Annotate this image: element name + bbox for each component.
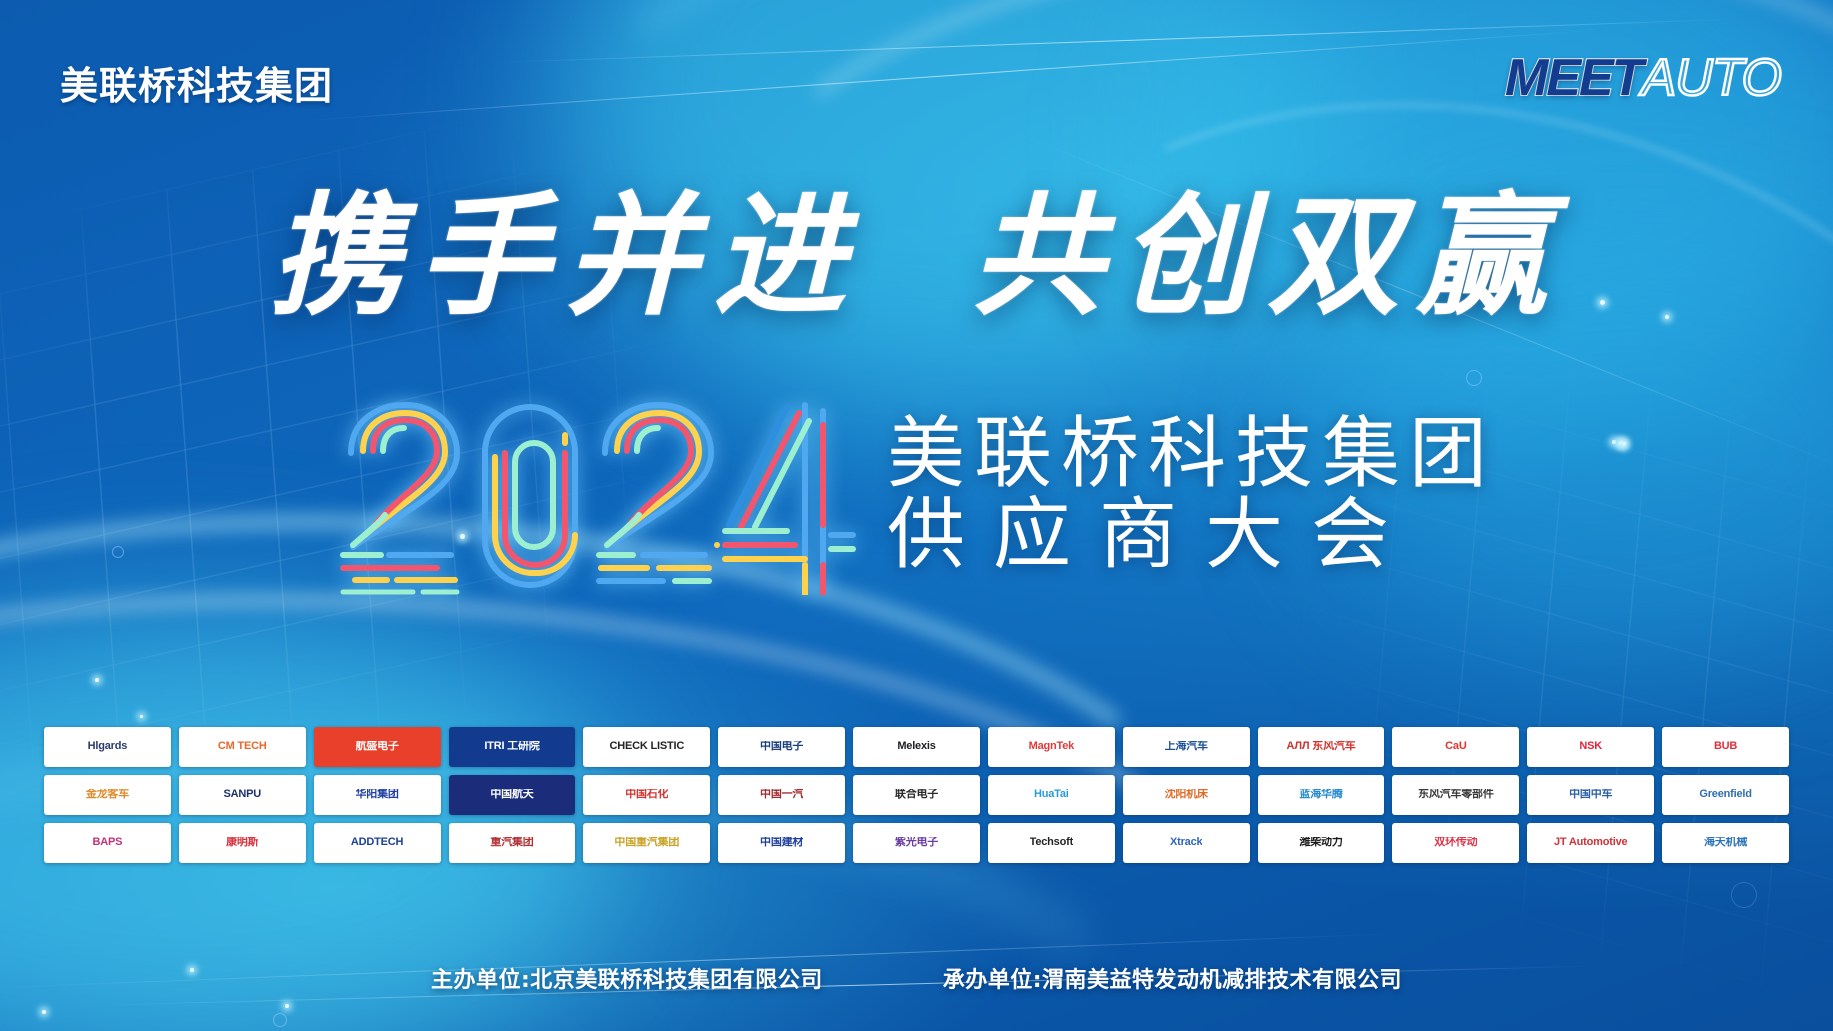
sponsor-logo-name: 东风汽车零部件 — [1418, 789, 1494, 801]
sponsor-logo-name: 中国建材 — [760, 837, 803, 849]
sponsor-logo-name: 沈阳机床 — [1165, 789, 1208, 801]
sparkle — [42, 1010, 46, 1014]
brand-logo-meetauto: MEETAUTO — [1505, 48, 1781, 108]
sponsor-logo-tile: 潍柴动力 — [1258, 823, 1385, 863]
year-2024-neon — [337, 395, 857, 595]
sponsor-logo-tile: 中国中车 — [1527, 775, 1654, 815]
sponsor-logo-name: 联合电子 — [895, 789, 938, 801]
sponsor-logo-name: 潍柴动力 — [1299, 837, 1342, 849]
sponsor-logo-name: 中国航天 — [490, 789, 533, 801]
sponsor-logo-tile: CHECK LISTIC — [583, 727, 710, 767]
ring-accent — [1731, 882, 1757, 908]
sponsor-logo-name: 双环传动 — [1434, 837, 1477, 849]
sparkle — [140, 715, 143, 718]
footer-organizer: 主办单位:北京美联桥科技集团有限公司 — [431, 962, 823, 994]
sponsor-logo-name: 航盛电子 — [356, 741, 399, 753]
sponsor-logo-name: 重汽集团 — [490, 837, 533, 849]
sponsor-logo-tile: CM TECH — [179, 727, 306, 767]
event-subtitle: 美联桥科技集团 供应商大会 — [887, 414, 1496, 576]
sponsor-logo-name: АЛЛ 东风汽车 — [1287, 741, 1356, 753]
sponsor-logo-name: 紫光电子 — [895, 837, 938, 849]
year-and-subtitle-row: 美联桥科技集团 供应商大会 — [0, 395, 1833, 595]
footer-credits: 主办单位:北京美联桥科技集团有限公司 承办单位:渭南美益特发动机减排技术有限公司 — [0, 962, 1833, 994]
hex-mesh-pattern-right — [1197, 280, 1833, 1031]
sponsor-logo-tile: ADDTECH — [314, 823, 441, 863]
sponsor-logo-tile: CaU — [1392, 727, 1519, 767]
sponsor-logo-grid: HlgardsCM TECH航盛电子ITRI 工研院CHECK LISTIC中国… — [44, 727, 1789, 863]
event-subtitle-line1: 美联桥科技集团 — [887, 414, 1496, 495]
sponsor-logo-name: 金龙客车 — [86, 789, 129, 801]
sponsor-logo-tile: 上海汽车 — [1123, 727, 1250, 767]
sponsor-logo-tile: 海天机械 — [1662, 823, 1789, 863]
sponsor-logo-name: 中国电子 — [760, 741, 803, 753]
sponsor-logo-tile: Xtrack — [1123, 823, 1250, 863]
sponsor-logo-name: NSK — [1579, 741, 1602, 753]
sponsor-logo-tile: 沈阳机床 — [1123, 775, 1250, 815]
event-subtitle-line2: 供应商大会 — [887, 495, 1496, 576]
sponsor-logo-tile: 航盛电子 — [314, 727, 441, 767]
sponsor-logo-name: BAPS — [93, 837, 123, 849]
sponsor-logo-name: CaU — [1445, 741, 1466, 753]
sponsor-logo-name: Techsoft — [1030, 837, 1073, 849]
sponsor-logo-tile: 重汽集团 — [449, 823, 576, 863]
sponsor-logo-tile: JT Automotive — [1527, 823, 1654, 863]
sponsor-logo-name: Melexis — [897, 741, 935, 753]
meetauto-auto-text: AUTO — [1641, 48, 1781, 108]
sponsor-logo-tile: BUB — [1662, 727, 1789, 767]
event-backdrop-poster: 美联桥科技集团 MEETAUTO 携手并进共创双赢 — [0, 0, 1833, 1031]
sponsor-logo-tile: HuaTai — [988, 775, 1115, 815]
sponsor-logo-tile: 东风汽车零部件 — [1392, 775, 1519, 815]
sponsor-logo-tile: Techsoft — [988, 823, 1115, 863]
sponsor-logo-name: 上海汽车 — [1165, 741, 1208, 753]
sponsor-logo-tile: Hlgards — [44, 727, 171, 767]
brand-logo-left-text: 美联桥科技集团 — [60, 55, 333, 110]
sponsor-logo-tile: 中国一汽 — [718, 775, 845, 815]
sponsor-logo-name: 康明斯 — [226, 837, 258, 849]
sponsor-logo-name: ITRI 工研院 — [484, 741, 539, 753]
sponsor-logo-tile: MagnTek — [988, 727, 1115, 767]
brand-logo-left: 美联桥科技集团 — [60, 55, 333, 110]
sponsor-logo-tile: 康明斯 — [179, 823, 306, 863]
sponsor-logo-name: BUB — [1714, 741, 1737, 753]
sponsor-logo-tile: NSK — [1527, 727, 1654, 767]
sponsor-logo-name: 中国一汽 — [760, 789, 803, 801]
sponsor-logo-tile: BAPS — [44, 823, 171, 863]
sponsor-logo-name: CHECK LISTIC — [609, 741, 684, 753]
sponsor-logo-tile: АЛЛ 东风汽车 — [1258, 727, 1385, 767]
sponsor-logo-tile: Greenfield — [1662, 775, 1789, 815]
sponsor-logo-tile: 联合电子 — [853, 775, 980, 815]
sparkle — [285, 1004, 289, 1008]
sponsor-logo-name: MagnTek — [1029, 741, 1074, 753]
sponsor-logo-tile: 蓝海华腾 — [1258, 775, 1385, 815]
sponsor-logo-name: 中国中车 — [1569, 789, 1612, 801]
sponsor-logo-tile: 中国航天 — [449, 775, 576, 815]
hairline — [302, 30, 1599, 122]
meetauto-meet-text: MEET — [1505, 48, 1641, 108]
sponsor-logo-tile: 中国石化 — [583, 775, 710, 815]
footer-coorganizer: 承办单位:渭南美益特发动机减排技术有限公司 — [943, 962, 1402, 994]
sponsor-logo-tile: 中国电子 — [718, 727, 845, 767]
sponsor-logo-name: Greenfield — [1699, 789, 1751, 801]
sponsor-logo-name: 华阳集团 — [356, 789, 399, 801]
headline-slogan: 携手并进共创双赢 — [0, 150, 1833, 341]
sponsor-logo-tile: 双环传动 — [1392, 823, 1519, 863]
sponsor-logo-tile: 华阳集团 — [314, 775, 441, 815]
sponsor-logo-name: 蓝海华腾 — [1299, 789, 1342, 801]
sponsor-logo-name: 中国石化 — [625, 789, 668, 801]
sponsor-logo-name: 海天机械 — [1704, 837, 1747, 849]
sponsor-logo-name: HuaTai — [1034, 789, 1069, 801]
sponsor-logo-tile: 中国建材 — [718, 823, 845, 863]
headline-part-1: 携手并进 — [270, 179, 862, 334]
headline-part-2: 共创双赢 — [972, 179, 1564, 334]
sponsor-logo-name: CM TECH — [218, 741, 267, 753]
sponsor-logo-tile: 紫光电子 — [853, 823, 980, 863]
sponsor-logo-tile: SANPU — [179, 775, 306, 815]
sponsor-logo-name: SANPU — [224, 789, 262, 801]
sponsor-logo-tile: ITRI 工研院 — [449, 727, 576, 767]
sponsor-logo-name: Xtrack — [1170, 837, 1202, 849]
sponsor-logo-tile: 中国重汽集团 — [583, 823, 710, 863]
sponsor-logo-name: 中国重汽集团 — [614, 837, 679, 849]
sparkle — [95, 678, 99, 682]
ring-accent — [1466, 370, 1482, 386]
sponsor-logo-name: JT Automotive — [1554, 837, 1627, 849]
sponsor-logo-name: ADDTECH — [351, 837, 403, 849]
ring-accent — [273, 1013, 287, 1027]
sponsor-logo-tile: 金龙客车 — [44, 775, 171, 815]
sponsor-logo-name: Hlgards — [88, 741, 128, 753]
sponsor-logo-tile: Melexis — [853, 727, 980, 767]
